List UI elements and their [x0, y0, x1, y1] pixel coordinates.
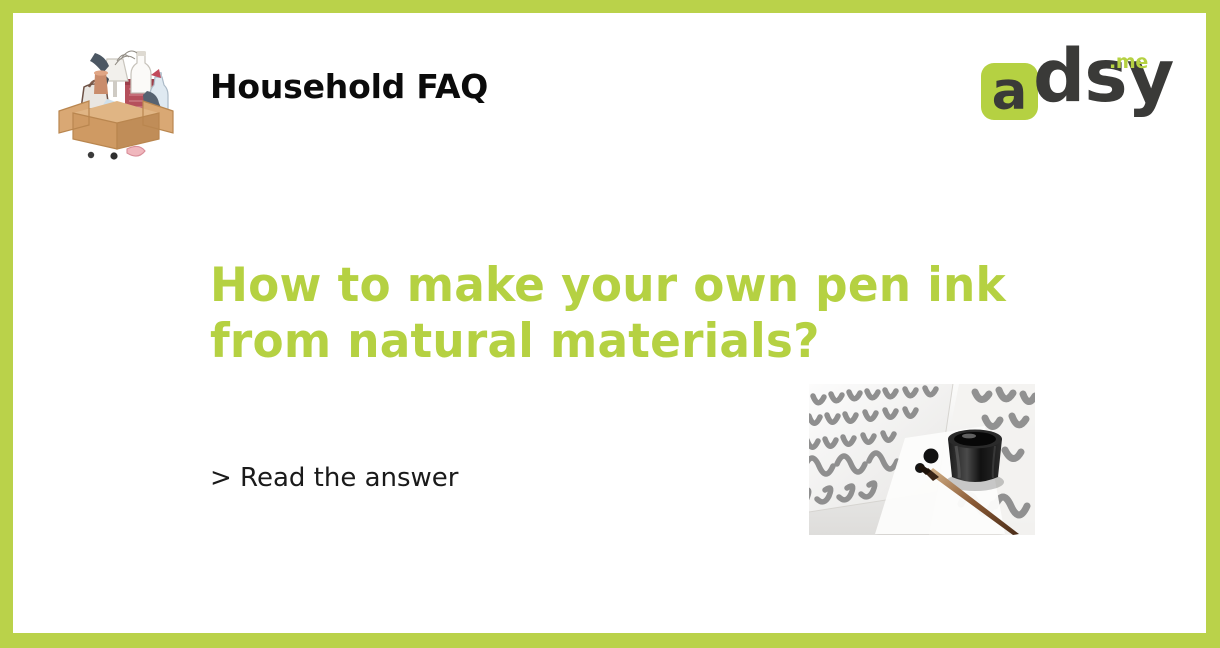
- logo-a-letter: a: [981, 63, 1038, 120]
- household-box-icon: [51, 31, 181, 161]
- adsy-logo[interactable]: a dsy .me: [981, 49, 1146, 134]
- header: Household FAQ a dsy .me: [13, 13, 1206, 173]
- faq-question-headline: How to make your own pen ink from natura…: [210, 258, 1069, 370]
- calligraphy-ink-photo: [809, 384, 1035, 535]
- faq-card: Household FAQ a dsy .me How to make your…: [0, 0, 1220, 648]
- page-title: Household FAQ: [210, 67, 488, 106]
- logo-wordmark: dsy: [1033, 40, 1173, 113]
- logo-tld: .me: [1109, 51, 1148, 73]
- read-the-answer-link[interactable]: > Read the answer: [210, 463, 459, 493]
- card-canvas: Household FAQ a dsy .me How to make your…: [13, 13, 1206, 633]
